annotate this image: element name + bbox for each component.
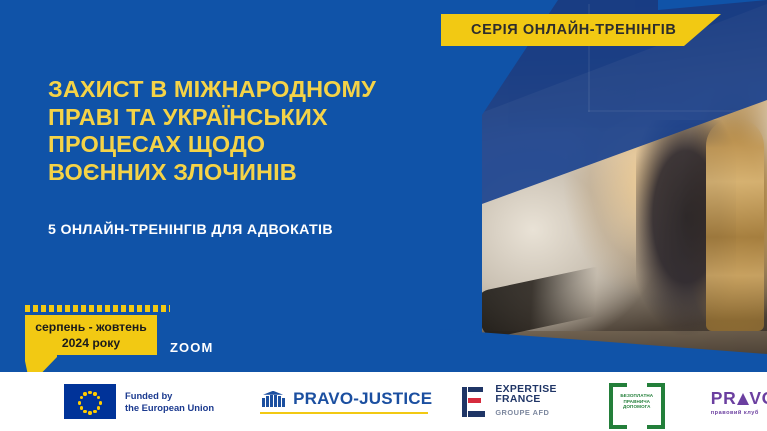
- platform-label: ZOOM: [170, 340, 213, 355]
- pravokator-label: PRVOKTOR: [711, 388, 767, 409]
- logo-pravokator: PRVOKTOR правовий клуб: [711, 372, 767, 431]
- courtroom-photo: [438, 0, 767, 372]
- eu-logo-line-2: the European Union: [125, 402, 214, 414]
- date-badge-line-2: 2024 року: [62, 335, 120, 351]
- expertise-france-text: EXPERTISE FRANCE GROUPE AFD: [495, 385, 556, 419]
- pravo-justice-row: PRAVO-JUSTICE: [260, 389, 432, 409]
- pravokator-part-2: VOK: [749, 388, 767, 408]
- eu-logo-line-1: Funded by: [125, 390, 214, 402]
- series-banner-label: СЕРІЯ ОНЛАЙН-ТРЕНІНГІВ: [471, 22, 677, 38]
- headline-line-3: ПРОЦЕСАХ ЩОДО: [48, 131, 408, 159]
- courthouse-icon: [260, 391, 286, 407]
- logo-bar: Funded by the European Union PRAVO-JUSTI…: [0, 372, 767, 431]
- legal-aid-bracket-icon: БЕЗОПЛАТНА ПРАВНИЧА ДОПОМОГА: [609, 383, 665, 421]
- logo-bezoplatna-pravnycha-dopomoga: БЕЗОПЛАТНА ПРАВНИЧА ДОПОМОГА: [609, 372, 665, 431]
- pravo-justice-label: PRAVO-JUSTICE: [293, 389, 432, 409]
- pravo-justice-underline: [260, 412, 428, 415]
- eu-flag-icon: [64, 384, 116, 419]
- date-badge: серпень - жовтень 2024 року: [25, 315, 157, 355]
- headline-line-1: ЗАХИСТ В МІЖНАРОДНОМУ: [48, 76, 408, 104]
- expertise-france-line-2: FRANCE: [495, 395, 556, 406]
- headline-subtitle: 5 ОНЛАЙН-ТРЕНІНГІВ ДЛЯ АДВОКАТІВ: [48, 222, 333, 238]
- date-badge-dotted-top: [25, 305, 170, 312]
- poster-canvas: СЕРІЯ ОНЛАЙН-ТРЕНІНГІВ ЗАХИСТ В МІЖНАРОД…: [0, 0, 767, 431]
- logo-pravo-justice: PRAVO-JUSTICE: [260, 372, 432, 431]
- expertise-france-line-3: GROUPE AFD: [495, 408, 556, 419]
- headline-line-4: ВОЄННИХ ЗЛОЧИНІВ: [48, 159, 408, 187]
- logo-expertise-france: EXPERTISE FRANCE GROUPE AFD: [462, 372, 556, 431]
- pravokator-triangle-a: [737, 393, 749, 405]
- headline-line-2: ПРАВІ ТА УКРАЇНСЬКИХ: [48, 104, 408, 132]
- pravokator-part-1: PR: [711, 388, 737, 408]
- series-banner: СЕРІЯ ОНЛАЙН-ТРЕНІНГІВ: [441, 14, 721, 46]
- expertise-france-icon: [462, 387, 488, 417]
- pravokator-subtitle: правовий клуб: [711, 410, 759, 416]
- eu-logo-text: Funded by the European Union: [125, 390, 214, 413]
- page-title: ЗАХИСТ В МІЖНАРОДНОМУ ПРАВІ ТА УКРАЇНСЬК…: [48, 76, 408, 186]
- logo-european-union: Funded by the European Union: [64, 372, 214, 431]
- date-badge-line-1: серпень - жовтень: [35, 319, 147, 335]
- lady-justice-statue: [706, 118, 764, 331]
